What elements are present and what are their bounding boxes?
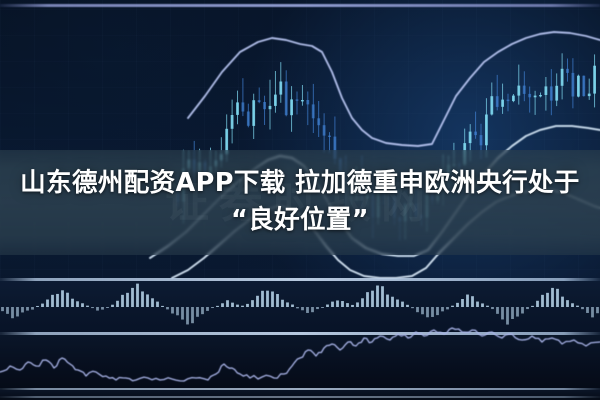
histogram-bar <box>286 302 289 307</box>
histogram-bar <box>1 307 4 311</box>
macd-histogram-bars <box>1 284 599 325</box>
histogram-bar <box>321 307 324 308</box>
histogram-bar <box>411 307 414 308</box>
histogram-bar <box>546 293 549 307</box>
histogram-bar <box>151 298 154 307</box>
histogram-bar <box>531 306 534 307</box>
histogram-bar <box>476 302 479 307</box>
histogram-bar <box>541 295 544 307</box>
histogram-bar <box>381 286 384 307</box>
histogram-bar <box>416 307 419 312</box>
histogram-bar <box>451 306 454 307</box>
histogram-bar <box>576 306 579 307</box>
histogram-bar <box>496 307 499 314</box>
histogram-bar <box>121 295 124 307</box>
histogram-bar <box>206 307 209 311</box>
histogram-bar <box>16 307 19 316</box>
histogram-bar <box>296 307 299 308</box>
histogram-bar <box>6 307 9 314</box>
histogram-bar <box>31 307 34 310</box>
histogram-bar <box>481 303 484 307</box>
histogram-bar <box>61 290 64 307</box>
indicator-line-path <box>0 328 600 381</box>
histogram-bar <box>181 307 184 320</box>
histogram-bar <box>346 303 349 307</box>
histogram-bar <box>176 307 179 315</box>
histogram-bar <box>241 306 244 307</box>
histogram-bar <box>446 307 449 309</box>
lower-indicator-panels <box>0 0 600 400</box>
histogram-bar <box>271 291 274 307</box>
histogram-bar <box>211 307 214 308</box>
histogram-bar <box>311 307 314 312</box>
histogram-bar <box>11 307 14 318</box>
histogram-bar <box>396 300 399 307</box>
histogram-bar <box>506 307 509 325</box>
histogram-bar <box>441 307 444 311</box>
histogram-bar <box>556 289 559 307</box>
histogram-bar <box>361 298 364 307</box>
histogram-bar <box>421 307 424 314</box>
histogram-bar <box>156 302 159 307</box>
histogram-bar <box>276 294 279 307</box>
histogram-bar <box>351 305 354 307</box>
histogram-bar <box>171 307 174 313</box>
histogram-bar <box>126 293 129 307</box>
histogram-bar <box>91 307 94 308</box>
histogram-bar <box>96 307 99 311</box>
histogram-bar <box>406 305 409 307</box>
histogram-bar <box>486 306 489 307</box>
histogram-bar <box>571 303 574 307</box>
histogram-bar <box>306 307 309 313</box>
histogram-bar <box>51 295 54 307</box>
histogram-bar <box>426 307 429 317</box>
histogram-bar <box>21 307 24 312</box>
histogram-bar <box>81 303 84 307</box>
histogram-bar <box>566 300 569 307</box>
histogram-bar <box>401 302 404 307</box>
histogram-bar <box>581 307 584 309</box>
histogram-bar <box>511 307 514 319</box>
histogram-bar <box>201 307 204 314</box>
histogram-bar <box>291 305 294 307</box>
histogram-bar <box>471 296 474 307</box>
histogram-bar <box>526 307 529 309</box>
histogram-bar <box>536 301 539 307</box>
histogram-bar <box>316 307 319 309</box>
histogram-bar <box>516 307 519 317</box>
histogram-bar <box>111 305 114 307</box>
histogram-bar <box>341 301 344 307</box>
histogram-bar <box>591 307 594 317</box>
histogram-bar <box>221 303 224 307</box>
histogram-bar <box>326 305 329 307</box>
histogram-bar <box>266 291 269 307</box>
histogram-bar <box>501 307 504 319</box>
histogram-bar <box>391 297 394 307</box>
histogram-bar <box>236 305 239 307</box>
histogram-bar <box>431 307 434 317</box>
histogram-bar <box>196 307 199 317</box>
histogram-bar <box>26 307 29 311</box>
histogram-bar <box>161 306 164 307</box>
histogram-bar <box>71 299 74 307</box>
news-thumbnail-image: 证券时报网 山东德州配资APP下载 拉加德重申欧洲央行处于 “良好位置” <box>0 0 600 400</box>
histogram-bar <box>491 307 494 309</box>
histogram-bar <box>36 306 39 307</box>
histogram-bar <box>586 307 589 313</box>
histogram-bar <box>256 296 259 307</box>
histogram-bar <box>226 300 229 307</box>
histogram-bar <box>191 307 194 323</box>
histogram-bar <box>301 307 304 310</box>
histogram-bar <box>281 300 284 307</box>
histogram-bar <box>116 301 119 307</box>
histogram-bar <box>251 300 254 307</box>
histogram-bar <box>456 303 459 307</box>
histogram-bar <box>466 295 469 307</box>
histogram-bar <box>551 288 554 307</box>
histogram-bar <box>131 288 134 307</box>
histogram-bar <box>231 303 234 307</box>
histogram-bar <box>136 284 139 307</box>
histogram-bar <box>56 294 59 307</box>
histogram-bar <box>101 307 104 310</box>
histogram-bar <box>376 286 379 307</box>
histogram-bar <box>186 307 189 324</box>
histogram-bar <box>371 291 374 307</box>
histogram-bar <box>41 304 44 307</box>
histogram-bar <box>261 291 264 307</box>
histogram-bar <box>106 307 109 308</box>
histogram-bar <box>336 300 339 307</box>
histogram-bar <box>216 306 219 307</box>
histogram-bar <box>86 306 89 307</box>
histogram-bar <box>366 292 369 307</box>
histogram-bar <box>166 307 169 309</box>
histogram-bar <box>141 291 144 307</box>
histogram-bar <box>46 300 49 307</box>
histogram-bar <box>76 301 79 307</box>
histogram-bar <box>66 293 69 307</box>
histogram-bar <box>436 307 439 315</box>
histogram-bar <box>356 302 359 307</box>
histogram-bar <box>561 297 564 307</box>
histogram-bar <box>386 295 389 307</box>
histogram-bar <box>331 302 334 307</box>
histogram-bar <box>521 307 524 313</box>
histogram-bar <box>461 299 464 307</box>
histogram-bar <box>246 304 249 307</box>
histogram-bar <box>146 294 149 307</box>
histogram-bar <box>596 307 599 313</box>
